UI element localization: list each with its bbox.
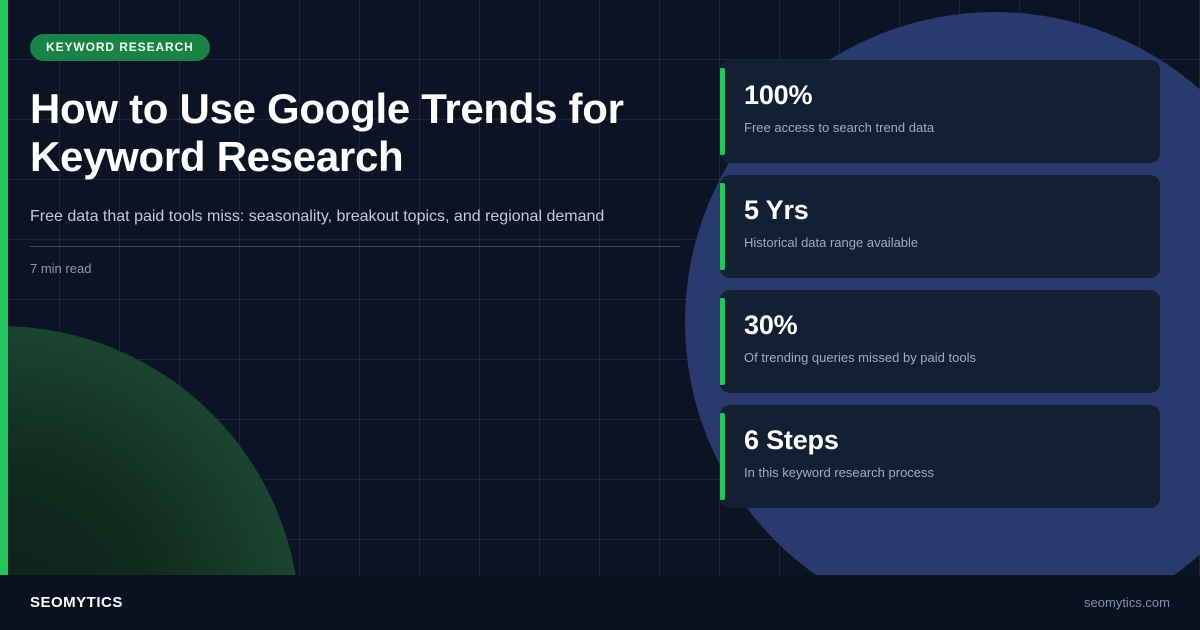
left-edge-accent-bar — [0, 0, 8, 575]
stat-value: 30% — [744, 310, 1138, 340]
footer-bar: SEOMYTICS seomytics.com — [0, 575, 1200, 630]
stat-label: Of trending queries missed by paid tools — [744, 349, 1138, 366]
stat-card: 100% Free access to search trend data — [720, 60, 1160, 163]
stat-label: Historical data range available — [744, 234, 1138, 251]
stat-value: 100% — [744, 80, 1138, 110]
brand-logo: SEOMYTICS — [30, 594, 123, 611]
stat-value: 6 Steps — [744, 425, 1138, 455]
category-badge: KEYWORD RESEARCH — [30, 34, 210, 61]
accent-bar — [720, 413, 725, 500]
accent-bar — [720, 68, 725, 155]
hero-content: KEYWORD RESEARCH How to Use Google Trend… — [30, 34, 690, 276]
stat-card: 6 Steps In this keyword research process — [720, 405, 1160, 508]
stat-card: 5 Yrs Historical data range available — [720, 175, 1160, 278]
page-title: How to Use Google Trends for Keyword Res… — [30, 85, 630, 181]
stat-label: In this keyword research process — [744, 464, 1138, 481]
read-time-label: 7 min read — [30, 261, 690, 276]
stat-card: 30% Of trending queries missed by paid t… — [720, 290, 1160, 393]
stat-label: Free access to search trend data — [744, 119, 1138, 136]
site-url: seomytics.com — [1084, 595, 1170, 610]
divider — [30, 246, 680, 247]
social-card-canvas: KEYWORD RESEARCH How to Use Google Trend… — [0, 0, 1200, 630]
stat-card-list: 100% Free access to search trend data 5 … — [720, 60, 1160, 508]
accent-bar — [720, 298, 725, 385]
stat-value: 5 Yrs — [744, 195, 1138, 225]
page-subtitle: Free data that paid tools miss: seasonal… — [30, 206, 690, 228]
accent-bar — [720, 183, 725, 270]
